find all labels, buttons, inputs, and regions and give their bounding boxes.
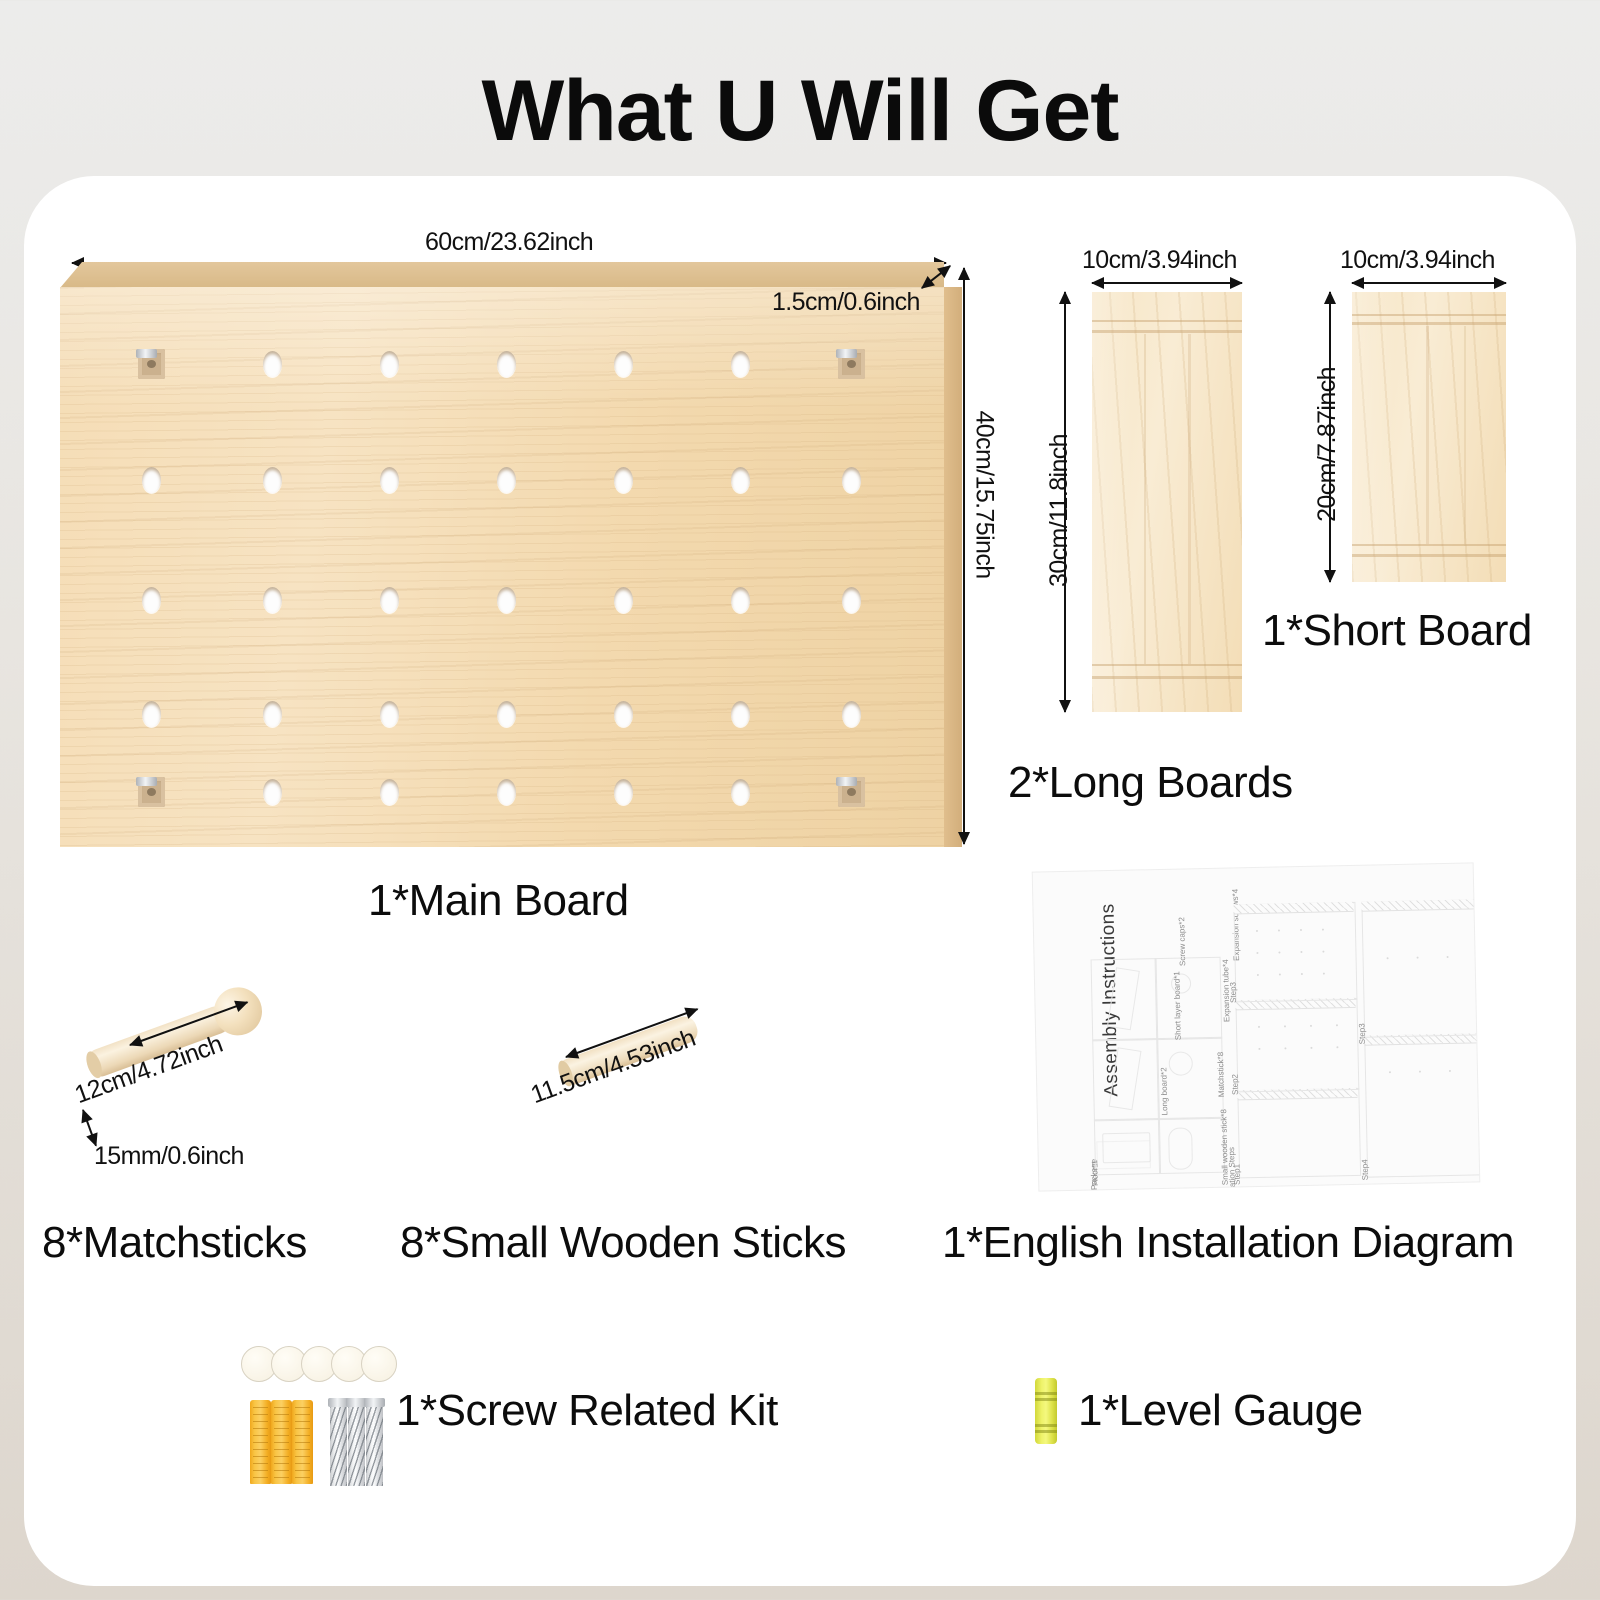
short-board-width-arrow xyxy=(1352,282,1506,284)
board-hole xyxy=(263,779,282,805)
long-board-width-label: 10cm/3.94inch xyxy=(1082,246,1237,275)
sheet-part-label: Screw caps*2 xyxy=(1177,906,1187,966)
sheet-step-panel xyxy=(1361,899,1479,1037)
wood-grain xyxy=(1188,334,1191,664)
sheet-step-panel xyxy=(1233,902,1357,1003)
board-hole xyxy=(731,587,750,613)
sheet-step-panel xyxy=(1237,1088,1361,1179)
wood-grain xyxy=(1352,554,1506,557)
sheet-part-shape xyxy=(1168,1127,1193,1169)
matchsticks-caption: 8*Matchsticks xyxy=(42,1218,307,1268)
wood-grain xyxy=(1352,322,1506,325)
short-board-height-label: 20cm/7.87inch xyxy=(1313,367,1342,522)
wood-grain xyxy=(1352,544,1506,546)
level-gauge-illustration xyxy=(1035,1378,1057,1444)
screw xyxy=(330,1398,347,1486)
board-hole xyxy=(263,351,282,377)
wall-anchor xyxy=(250,1400,271,1484)
board-hole xyxy=(497,779,516,805)
main-board-width-label: 60cm/23.62inch xyxy=(425,228,593,257)
level-gauge-caption: 1*Level Gauge xyxy=(1078,1386,1363,1436)
board-hole xyxy=(842,467,861,493)
board-screw-hole xyxy=(838,777,865,807)
main-board-side-edge xyxy=(944,287,962,847)
board-hole xyxy=(142,587,161,613)
board-hole xyxy=(842,701,861,727)
board-hole xyxy=(497,701,516,727)
board-hole xyxy=(731,351,750,377)
board-hole xyxy=(497,587,516,613)
board-hole xyxy=(731,701,750,727)
sheet-step-panel xyxy=(1235,998,1359,1093)
short-board-caption: 1*Short Board xyxy=(1262,606,1532,656)
sheet-step-label: Step3 xyxy=(1357,1004,1367,1044)
infographic-root: What U Will Get 60cm/23.62inch xyxy=(0,0,1600,1600)
board-hole xyxy=(380,779,399,805)
screw-cap xyxy=(361,1346,397,1382)
board-screw-hole xyxy=(138,349,165,379)
main-board-thickness-label: 1.5cm/0.6inch xyxy=(772,288,920,317)
sheet-step-label: Step2 xyxy=(1230,1055,1240,1095)
wood-grain xyxy=(1092,676,1242,679)
sheet-step-panel xyxy=(1364,1033,1479,1177)
board-hole xyxy=(842,587,861,613)
wall-anchor xyxy=(292,1400,313,1484)
board-hole xyxy=(263,467,282,493)
installation-diagram-caption: 1*English Installation Diagram xyxy=(942,1218,1514,1268)
board-hole xyxy=(142,467,161,493)
wood-grain xyxy=(1092,320,1242,322)
board-screw-hole xyxy=(138,777,165,807)
board-hole xyxy=(497,467,516,493)
board-hole xyxy=(614,351,633,377)
wall-anchor xyxy=(271,1400,292,1484)
main-board-height-label: 40cm/15.75inch xyxy=(970,410,999,578)
long-boards-caption: 2*Long Boards xyxy=(1008,758,1293,808)
screw xyxy=(348,1398,365,1486)
long-board-illustration xyxy=(1092,292,1242,712)
board-hole xyxy=(380,701,399,727)
sheet-step-label: Step1 xyxy=(1232,1145,1242,1185)
wood-grain xyxy=(1092,330,1242,333)
page-title: What U Will Get xyxy=(0,62,1600,161)
board-hole xyxy=(614,779,633,805)
board-hole xyxy=(731,779,750,805)
board-hole xyxy=(497,351,516,377)
long-board-width-arrow xyxy=(1092,282,1242,284)
main-board-illustration xyxy=(60,262,944,847)
main-board-caption: 1*Main Board xyxy=(368,876,629,926)
wood-grain xyxy=(1426,326,1429,544)
short-board-illustration xyxy=(1352,292,1506,582)
short-board-width-label: 10cm/3.94inch xyxy=(1340,246,1495,275)
sheet-part-label: Long board*2 xyxy=(1159,1045,1169,1115)
main-board-face xyxy=(60,287,944,847)
main-board-height-arrow xyxy=(963,268,965,844)
sheet-cell xyxy=(1155,957,1223,1040)
screw-kit-caption: 1*Screw Related Kit xyxy=(396,1386,778,1436)
installation-diagram-illustration: Assembly Instructions Parts Package Long… xyxy=(1033,863,1480,1190)
board-hole xyxy=(614,701,633,727)
sheet-part-label: Matchstick*8 xyxy=(1216,1041,1226,1097)
board-hole xyxy=(614,587,633,613)
small-wooden-sticks-caption: 8*Small Wooden Sticks xyxy=(400,1218,846,1268)
board-screw-hole xyxy=(838,349,865,379)
screw xyxy=(366,1398,383,1486)
matchstick-diameter-label: 15mm/0.6inch xyxy=(94,1142,244,1171)
board-hole xyxy=(142,701,161,727)
wood-grain xyxy=(1092,664,1242,666)
board-hole xyxy=(380,587,399,613)
wood-grain xyxy=(1144,334,1146,664)
board-hole xyxy=(380,351,399,377)
main-board-top-edge xyxy=(60,262,944,288)
long-board-height-label: 30cm/11.8inch xyxy=(1045,434,1074,587)
wood-grain xyxy=(1464,326,1466,544)
sheet-step-label: Step3 xyxy=(1228,963,1238,1003)
board-hole xyxy=(731,467,750,493)
board-hole xyxy=(380,467,399,493)
board-hole xyxy=(263,587,282,613)
board-hole xyxy=(263,701,282,727)
board-hole xyxy=(614,467,633,493)
wood-grain xyxy=(1352,314,1506,316)
sheet-step-label: Step4 xyxy=(1360,1140,1370,1180)
